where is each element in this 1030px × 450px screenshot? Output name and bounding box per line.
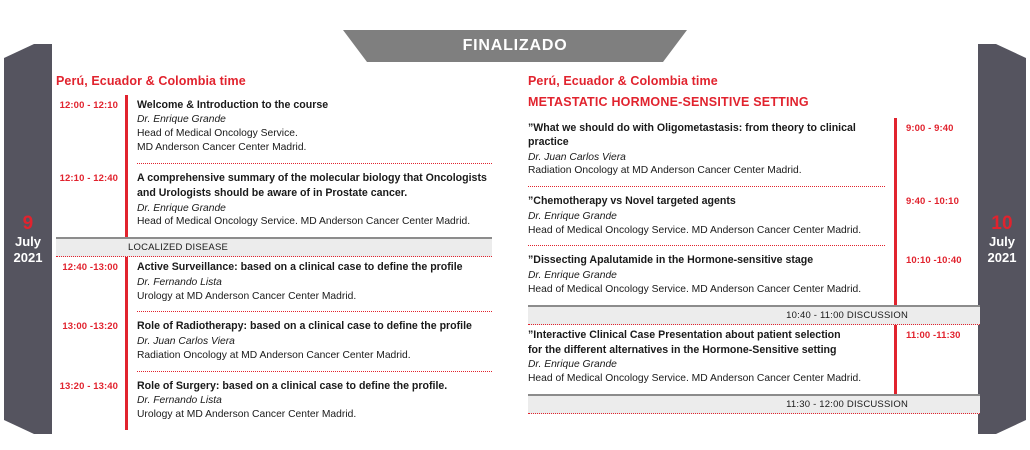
section-band-label: LOCALIZED DISEASE (56, 242, 228, 253)
session-row[interactable]: 12:10 - 12:40 A comprehensive summary of… (56, 168, 492, 237)
session-title: and Urologists should be aware of in Pro… (137, 186, 492, 200)
session-title: Welcome & Introduction to the course (137, 98, 492, 112)
session-speaker: Dr. Enrique Grande (137, 202, 492, 216)
session-title: ”Dissecting Apalutamide in the Hormone-s… (528, 253, 885, 267)
session-speaker: Dr. Fernando Lista (137, 276, 492, 290)
date-tab-left-year: 2021 (14, 251, 43, 266)
session-affiliation: Head of Medical Oncology Service. MD And… (528, 372, 885, 386)
session-row[interactable]: ”What we should do with Oligometastasis:… (528, 118, 980, 186)
dotted-separator (137, 371, 492, 372)
session-affiliation: MD Anderson Cancer Center Madrid. (137, 141, 492, 155)
session-row[interactable]: 13:00 -13:20 Role of Radiotherapy: based… (56, 316, 492, 370)
session-row[interactable]: ”Interactive Clinical Case Presentation … (528, 325, 980, 394)
dotted-separator (528, 186, 885, 187)
session-speaker: Dr. Enrique Grande (528, 358, 885, 372)
date-tab-left-month: July (15, 235, 41, 250)
date-tab-right-day: 10 (991, 213, 1013, 234)
session-title: Role of Radiotherapy: based on a clinica… (137, 319, 492, 333)
section-heading-metastatic: METASTATIC HORMONE-SENSITIVE SETTING (528, 95, 980, 109)
discussion-band-label: 10:40 - 11:00 DISCUSSION (786, 310, 980, 321)
dotted-separator (137, 163, 492, 164)
session-body: A comprehensive summary of the molecular… (128, 168, 492, 237)
session-time: 11:00 -11:30 (897, 325, 980, 394)
session-row[interactable]: 13:20 - 13:40 Role of Surgery: based on … (56, 376, 492, 430)
session-affiliation: Head of Medical Oncology Service. MD And… (528, 224, 885, 238)
session-affiliation: Radiation Oncology at MD Anderson Cancer… (137, 349, 492, 363)
session-speaker: Dr. Enrique Grande (528, 210, 885, 224)
session-speaker: Dr. Enrique Grande (528, 269, 885, 283)
discussion-band: 10:40 - 11:00 DISCUSSION (528, 305, 980, 325)
session-speaker: Dr. Fernando Lista (137, 394, 492, 408)
session-time: 13:00 -13:20 (56, 316, 125, 370)
session-time: 9:40 - 10:10 (897, 191, 980, 245)
session-affiliation: Head of Medical Oncology Service. (137, 127, 492, 141)
session-title: Role of Surgery: based on a clinical cas… (137, 379, 492, 393)
session-title: A comprehensive summary of the molecular… (137, 171, 492, 185)
timezone-heading-right: Perú, Ecuador & Colombia time (528, 74, 980, 88)
date-tab-left-day: 9 (23, 213, 34, 234)
timezone-heading-left: Perú, Ecuador & Colombia time (56, 74, 492, 88)
dotted-separator (137, 311, 492, 312)
discussion-band: 11:30 - 12:00 DISCUSSION (528, 394, 980, 414)
session-body: ”Interactive Clinical Case Presentation … (528, 325, 894, 394)
discussion-band-label: 11:30 - 12:00 DISCUSSION (786, 399, 980, 410)
session-body: Welcome & Introduction to the course Dr.… (128, 95, 492, 163)
date-tab-right-month: July (989, 235, 1015, 250)
session-time: 10:10 -10:40 (897, 250, 980, 304)
session-affiliation: Urology at MD Anderson Cancer Center Mad… (137, 408, 492, 422)
session-body: ”What we should do with Oligometastasis:… (528, 118, 894, 186)
session-affiliation: Head of Medical Oncology Service. MD And… (137, 215, 492, 229)
session-row[interactable]: ”Dissecting Apalutamide in the Hormone-s… (528, 250, 980, 304)
session-time: 13:20 - 13:40 (56, 376, 125, 430)
session-title: ”Chemotherapy vs Novel targeted agents (528, 194, 885, 208)
session-row[interactable]: ”Chemotherapy vs Novel targeted agents D… (528, 191, 980, 245)
session-row[interactable]: 12:40 -13:00 Active Surveillance: based … (56, 257, 492, 311)
session-time: 12:40 -13:00 (56, 257, 125, 311)
session-affiliation: Radiation Oncology at MD Anderson Cancer… (528, 164, 885, 178)
session-speaker: Dr. Enrique Grande (137, 113, 492, 127)
agenda-page: 9 July 2021 10 July 2021 FINALIZADO Perú… (0, 0, 1030, 450)
date-tab-right-year: 2021 (988, 251, 1017, 266)
date-tab-july-10: 10 July 2021 (978, 44, 1026, 434)
session-title: Active Surveillance: based on a clinical… (137, 260, 492, 274)
session-time: 9:00 - 9:40 (897, 118, 980, 186)
session-body: Role of Surgery: based on a clinical cas… (128, 376, 492, 430)
session-time: 12:00 - 12:10 (56, 95, 125, 163)
session-body: ”Dissecting Apalutamide in the Hormone-s… (528, 250, 894, 304)
status-ribbon-finalizado: FINALIZADO (343, 30, 687, 62)
session-row[interactable]: 12:00 - 12:10 Welcome & Introduction to … (56, 95, 492, 163)
agenda-column-day-2: Perú, Ecuador & Colombia time METASTATIC… (528, 74, 980, 414)
session-speaker: Dr. Juan Carlos Viera (528, 151, 885, 165)
status-ribbon-label: FINALIZADO (463, 37, 568, 56)
session-title: ”Interactive Clinical Case Presentation … (528, 328, 885, 342)
session-body: ”Chemotherapy vs Novel targeted agents D… (528, 191, 894, 245)
session-speaker: Dr. Juan Carlos Viera (137, 335, 492, 349)
section-band-localized-disease: LOCALIZED DISEASE (56, 237, 492, 257)
date-tab-july-9: 9 July 2021 (4, 44, 52, 434)
session-affiliation: Urology at MD Anderson Cancer Center Mad… (137, 290, 492, 304)
session-title: for the different alternatives in the Ho… (528, 343, 885, 357)
session-time: 12:10 - 12:40 (56, 168, 125, 237)
dotted-separator (528, 245, 885, 246)
session-body: Active Surveillance: based on a clinical… (128, 257, 492, 311)
session-body: Role of Radiotherapy: based on a clinica… (128, 316, 492, 370)
agenda-column-day-1: Perú, Ecuador & Colombia time 12:00 - 12… (56, 74, 492, 430)
session-title: ”What we should do with Oligometastasis:… (528, 121, 885, 150)
session-affiliation: Head of Medical Oncology Service. MD And… (528, 283, 885, 297)
